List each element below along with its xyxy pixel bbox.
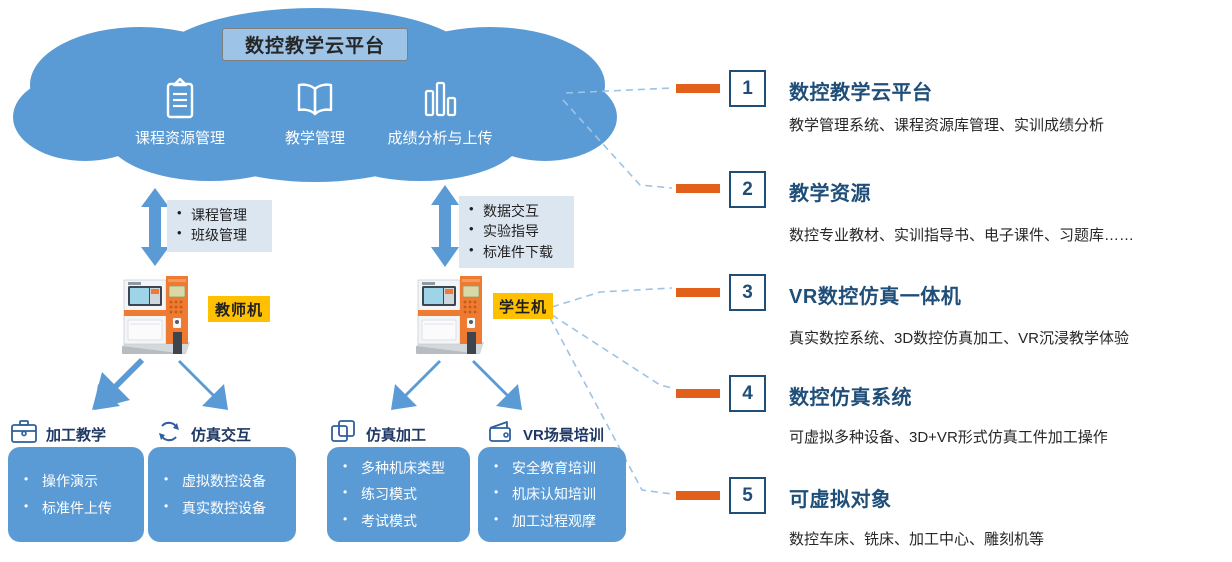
note-item: 实验指导 (467, 221, 564, 241)
arrow-to-vr-scene-training (470, 358, 528, 419)
legend-marker-bar (676, 84, 720, 93)
box-machining-teaching: 操作演示 标准件上传 (8, 447, 144, 542)
cloud-item-course-resource[interactable]: 课程资源管理 (115, 75, 245, 148)
box-item: 考试模式 (341, 508, 462, 535)
legend-marker-bar (676, 184, 720, 193)
legend-desc: 真实数控系统、3D数控仿真加工、VR沉浸教学体验 (789, 327, 1129, 348)
arrow-to-simulation-interaction (176, 358, 234, 419)
bar-chart-icon (375, 75, 505, 121)
legend-number: 1 (729, 70, 766, 107)
group-head-label: 仿真加工 (366, 424, 426, 445)
note-item: 班级管理 (175, 225, 262, 245)
box-simulated-machining: 多种机床类型 练习模式 考试模式 (327, 447, 470, 542)
box-item: 安全教育培训 (492, 455, 618, 482)
legend-title: VR数控仿真一体机 (789, 280, 961, 309)
box-item: 操作演示 (22, 468, 136, 495)
note-item: 课程管理 (175, 205, 262, 225)
group-head-simulation-interaction[interactable]: 仿真交互 (155, 419, 251, 450)
cnc-machine-icon (118, 272, 196, 358)
legend-desc: 数控专业教材、实训指导书、电子课件、习题库…… (789, 224, 1134, 245)
legend-title: 可虚拟对象 (789, 483, 892, 512)
group-head-label: 加工教学 (46, 424, 106, 445)
box-item: 机床认知培训 (492, 481, 618, 508)
cloud-item-label: 课程资源管理 (115, 127, 245, 148)
box-item: 虚拟数控设备 (162, 468, 288, 495)
legend-number: 4 (729, 375, 766, 412)
box-item: 标准件上传 (22, 495, 136, 522)
open-book-icon (250, 75, 380, 121)
legend-number: 3 (729, 274, 766, 311)
box-simulation-interaction: 虚拟数控设备 真实数控设备 (148, 447, 296, 542)
legend-marker-bar (676, 491, 720, 500)
legend-title: 数控仿真系统 (789, 381, 912, 410)
group-head-label: 仿真交互 (191, 424, 251, 445)
legend-marker-bar (676, 389, 720, 398)
note-item: 标准件下载 (467, 242, 564, 262)
cnc-machine-icon (412, 272, 490, 358)
box-item: 加工过程观摩 (492, 508, 618, 535)
group-head-vr-scene-training[interactable]: VR场景培训 (487, 419, 604, 450)
student-machine[interactable] (412, 272, 490, 363)
cloud-item-label: 成绩分析与上传 (375, 127, 505, 148)
clipboard-icon (115, 75, 245, 121)
group-head-machining-teaching[interactable]: 加工教学 (10, 419, 106, 450)
cloud-item-label: 教学管理 (250, 127, 380, 148)
arrow-to-simulated-machining (385, 358, 443, 419)
teacher-machine[interactable] (118, 272, 196, 363)
arrow-to-machining-teaching (88, 358, 146, 419)
vr-headset-icon (487, 419, 515, 450)
teacher-bidirectional-arrow (140, 188, 170, 271)
teacher-channel-note: 课程管理 班级管理 (167, 200, 272, 252)
legend-desc: 教学管理系统、课程资源库管理、实训成绩分析 (789, 114, 1104, 135)
box-vr-scene-training: 安全教育培训 机床认知培训 加工过程观摩 (478, 447, 626, 542)
briefcase-icon (10, 419, 38, 450)
cloud-item-score-analysis[interactable]: 成绩分析与上传 (375, 75, 505, 148)
note-item: 数据交互 (467, 201, 564, 221)
box-item: 练习模式 (341, 481, 462, 508)
legend-marker-bar (676, 288, 720, 297)
legend-desc: 可虚拟多种设备、3D+VR形式仿真工件加工操作 (789, 426, 1108, 447)
legend-desc: 数控车床、铣床、加工中心、雕刻机等 (789, 528, 1044, 549)
legend-number: 2 (729, 171, 766, 208)
cloud-title: 数控教学云平台 (222, 28, 408, 61)
student-machine-tag: 学生机 (493, 293, 553, 319)
group-head-label: VR场景培训 (523, 424, 604, 445)
sync-arrows-icon (155, 419, 183, 450)
legend-title: 教学资源 (789, 177, 871, 206)
legend-title: 数控教学云平台 (789, 76, 933, 105)
box-item: 多种机床类型 (341, 455, 462, 482)
box-item: 真实数控设备 (162, 495, 288, 522)
student-bidirectional-arrow (430, 185, 460, 272)
student-channel-note: 数据交互 实验指导 标准件下载 (459, 196, 574, 268)
group-head-simulated-machining[interactable]: 仿真加工 (330, 419, 426, 450)
legend-number: 5 (729, 477, 766, 514)
diagram-canvas: 数控教学云平台 课程资源管理 教学管理 (0, 0, 1232, 562)
cloud-item-teaching-mgmt[interactable]: 教学管理 (250, 75, 380, 148)
teacher-machine-tag: 教师机 (208, 296, 270, 322)
copy-layers-icon (330, 419, 358, 450)
